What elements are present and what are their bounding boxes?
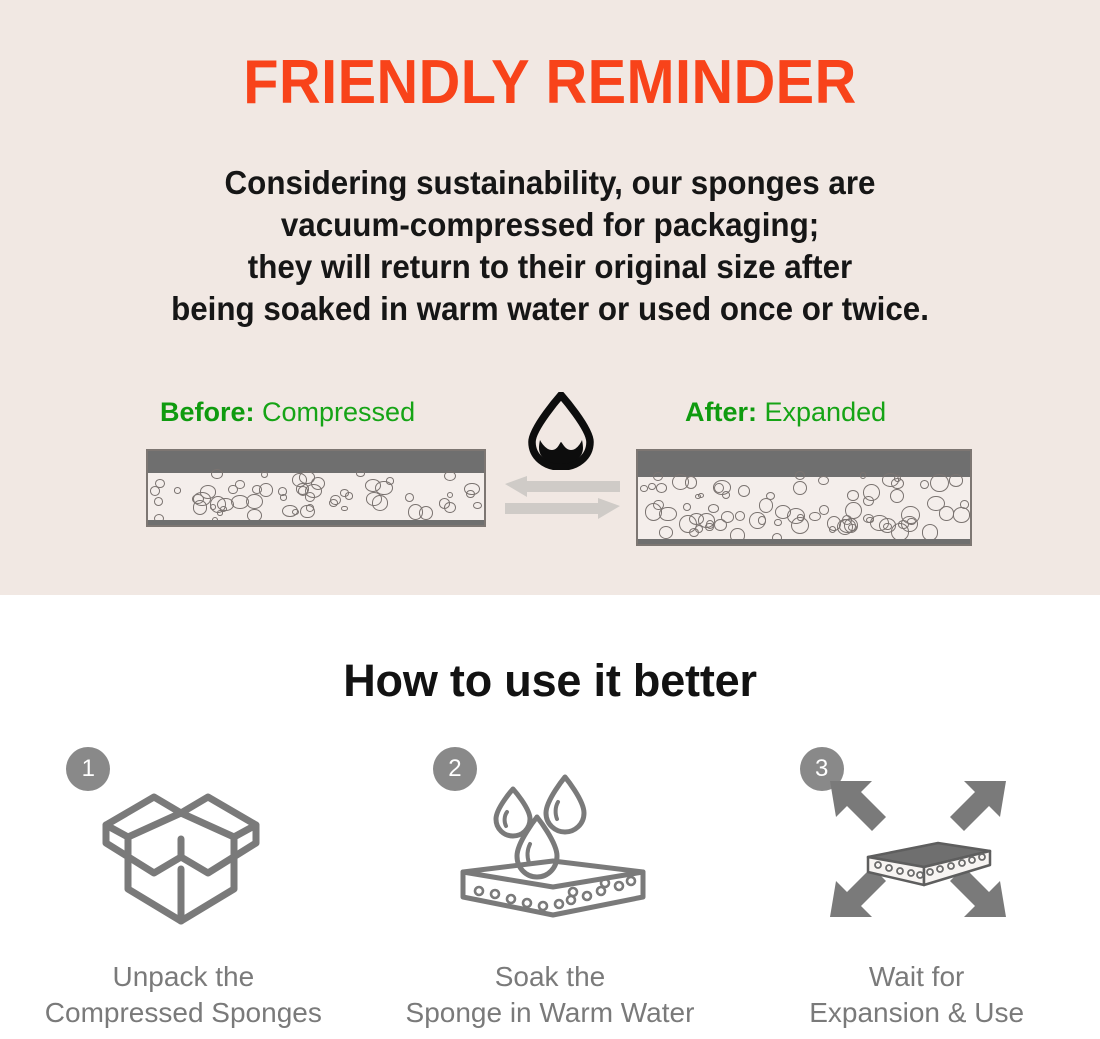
step-caption-line-2: Sponge in Warm Water (406, 995, 695, 1031)
sponge-pore (386, 477, 395, 485)
sponge-pore (685, 476, 697, 488)
sponge-pore (759, 498, 773, 512)
before-label: Before: Compressed (160, 399, 415, 426)
step-caption-line-1: Unpack the (45, 959, 322, 995)
after-label-tail: Expanded (765, 397, 887, 427)
sponge-pore (708, 504, 719, 513)
sponge-bottom-band (638, 539, 970, 544)
sponge-pore (211, 469, 223, 479)
sponge-bottom-band (148, 520, 484, 525)
step-item: 3 (733, 745, 1100, 1031)
sponge-pore (464, 483, 480, 496)
sponge-pore (439, 498, 451, 509)
sponge-pore (311, 477, 325, 490)
sponge-pore (217, 498, 234, 512)
sponge-pore (640, 485, 648, 492)
sponge-pore (150, 486, 160, 495)
sponge-pore (473, 502, 482, 510)
sponge-pore (698, 493, 704, 498)
sponge-pore (444, 471, 457, 481)
body-line-3: they will return to their original size … (28, 246, 1073, 288)
sponge-pore (866, 517, 874, 524)
sponge-pore (844, 518, 859, 533)
sponge-pore (683, 503, 691, 512)
sponge-pore (721, 511, 734, 523)
sponge-pore (656, 483, 667, 493)
sponge-pore (340, 489, 349, 496)
sponge-pore (259, 483, 273, 496)
sponge-pore (766, 492, 775, 500)
sponge-pore (939, 506, 954, 520)
sponge-pore (890, 489, 904, 503)
arrow-left-icon (505, 476, 620, 498)
sponge-pore (738, 485, 750, 497)
sponge-pore (818, 476, 828, 485)
open-box-icon (86, 769, 276, 929)
sponge-pore (174, 487, 182, 494)
sponge-pore (819, 505, 829, 515)
expanded-sponge-image (636, 449, 972, 546)
step-caption: Wait for Expansion & Use (809, 959, 1024, 1031)
sponge-pore (356, 470, 364, 477)
sponge-pore (296, 483, 309, 494)
sponge-pore (659, 507, 677, 522)
sponge-pore (735, 511, 745, 521)
body-line-4: being soaked in warm water or used once … (28, 288, 1073, 330)
body-line-1: Considering sustainability, our sponges … (28, 162, 1073, 204)
sponge-pore (795, 471, 805, 480)
step-1-art: 1 (58, 745, 308, 935)
sponge-pore (278, 487, 287, 496)
how-to-use-section: How to use it better 1 (0, 595, 1100, 1039)
compressed-sponge-image (146, 449, 486, 527)
sponge-pore (300, 505, 314, 519)
step-caption-line-1: Soak the (406, 959, 695, 995)
arrow-right-icon (505, 498, 620, 520)
page-title: FRIENDLY REMINDER (39, 52, 1062, 114)
sponge-pores (638, 451, 970, 544)
sponge-pore (891, 523, 909, 540)
step-item: 2 (367, 745, 734, 1031)
water-droplet-icon (523, 392, 599, 470)
sponge-pore (863, 484, 880, 501)
after-label: After: Expanded (685, 399, 886, 426)
sponge-pore (930, 474, 949, 492)
sponge-pore (645, 503, 663, 521)
step-caption: Unpack the Compressed Sponges (45, 959, 322, 1031)
step-caption: Soak the Sponge in Warm Water (406, 959, 695, 1031)
sponge-pore (953, 507, 971, 522)
step-3-art: 3 (792, 745, 1042, 935)
step-caption-line-1: Wait for (809, 959, 1024, 995)
sponge-pores (148, 451, 484, 525)
sponge-pore (282, 505, 298, 518)
sponge-pore (713, 480, 731, 495)
sponge-pore (793, 481, 807, 495)
sponge-pore (154, 497, 163, 506)
step-item: 1 (0, 745, 367, 1031)
expanding-arrows-sponge-icon (820, 769, 1016, 929)
sponge-pore (261, 471, 268, 478)
step-caption-line-2: Expansion & Use (809, 995, 1024, 1031)
sponge-pore (648, 483, 655, 490)
sponge-pore (920, 480, 929, 489)
before-label-lead: Before: (160, 397, 255, 427)
before-label-tail: Compressed (262, 397, 415, 427)
body-line-2: vacuum-compressed for packaging; (28, 204, 1073, 246)
sponge-pore (749, 512, 766, 529)
sponge-pore (949, 474, 964, 487)
how-to-use-title: How to use it better (0, 658, 1100, 703)
reminder-body-text: Considering sustainability, our sponges … (28, 162, 1073, 330)
sponge-pore (847, 490, 859, 501)
sponge-pore (698, 513, 715, 528)
water-drops-on-sponge-icon (453, 769, 649, 929)
sponge-pore (447, 492, 454, 498)
transformation-indicator (505, 392, 620, 522)
sponge-pore (405, 493, 414, 502)
sponge-pore (419, 506, 433, 520)
step-2-art: 2 (425, 745, 675, 935)
steps-list: 1 (0, 745, 1100, 1031)
friendly-reminder-section: FRIENDLY REMINDER Considering sustainabi… (0, 0, 1100, 595)
sponge-pore (774, 519, 782, 526)
sponge-pore (231, 495, 249, 509)
sponge-pore (341, 506, 348, 512)
sponge-pore (193, 500, 208, 514)
after-label-lead: After: (685, 397, 757, 427)
sponge-pore (860, 472, 866, 478)
sponge-pore (228, 485, 237, 494)
step-caption-line-2: Compressed Sponges (45, 995, 322, 1031)
sponge-pore (329, 499, 338, 507)
sponge-pore (659, 526, 673, 539)
sponge-pore (791, 517, 809, 534)
sponge-pore (653, 472, 663, 481)
